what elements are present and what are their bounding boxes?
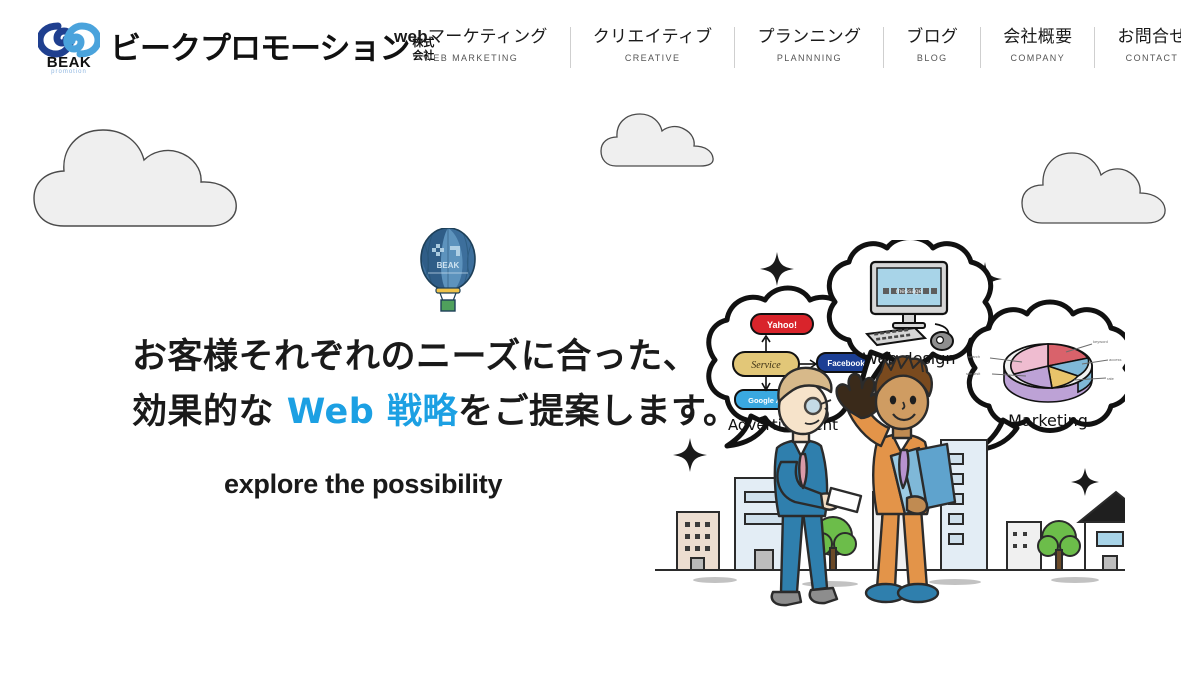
pie-callout-label: rate <box>1107 376 1115 381</box>
ad-node-label: Yahoo! <box>767 320 797 330</box>
nav-label-en: BLOG <box>917 53 948 63</box>
logo-company-name: ビークプロモーション <box>110 34 409 65</box>
nav-item-planning[interactable]: プランニング PLANNNING <box>735 26 883 72</box>
nav-item-contact[interactable]: お問合せ CONTACT <box>1095 26 1181 72</box>
nav-item-blog[interactable]: ブログ BLOG <box>884 26 980 72</box>
tree-icon <box>1038 521 1080 570</box>
balloon-beak-label: BEAK <box>437 261 460 270</box>
nav-label-en: COMPANY <box>1010 53 1065 63</box>
headline-pre: 効果的な <box>132 392 287 432</box>
cloud-left <box>28 108 256 233</box>
nav-label-ja: プランニング <box>757 26 861 48</box>
logo-sub-text: promotion <box>38 69 100 75</box>
hero-headline-line1: お客様それぞれのニーズに合った、 <box>132 330 739 385</box>
nav-label-ja-bold: web <box>394 27 428 46</box>
marketing-bubble: keyword access rate search site visit Ma… <box>966 302 1125 450</box>
sparkle-icon <box>1071 468 1099 496</box>
pie-callout-label: site visit <box>966 371 981 376</box>
cloud-center <box>598 110 718 173</box>
nav-item-company[interactable]: 会社概要 COMPANY <box>981 26 1094 72</box>
nav-label-ja: 会社概要 <box>1003 26 1072 48</box>
nav-label-en: CREATIVE <box>625 53 681 63</box>
headline-accent: Web 戦略 <box>287 392 458 432</box>
nav-label-en: PLANNNING <box>777 53 842 63</box>
sparkle-icon <box>760 252 794 286</box>
headline-post: をご提案します。 <box>458 392 739 432</box>
nav-item-creative[interactable]: クリエイティブ CREATIVE <box>571 26 735 72</box>
nav-item-web-marketing[interactable]: webマーケティング WEB MARKETING <box>372 26 570 72</box>
nav-label-en: WEB MARKETING <box>424 53 519 63</box>
pie-callout-label: search <box>968 354 980 359</box>
nav-label-en: CONTACT <box>1126 53 1179 63</box>
ad-node-label: Facebook <box>827 359 865 368</box>
pie-callout-label: keyword <box>1093 339 1108 344</box>
beak-infinity-icon: BEAK promotion <box>38 22 100 76</box>
nav-label-ja: webマーケティング <box>394 26 548 48</box>
hot-air-balloon-icon: BEAK <box>412 228 484 317</box>
page-stage: BEAK promotion ビークプロモーション 株式 会社 webマーケティ… <box>0 0 1181 685</box>
marketing-caption: Marketing <box>1008 411 1088 430</box>
hero-headline-line2: 効果的な Web 戦略をご提案します。 <box>132 385 739 440</box>
site-header: BEAK promotion ビークプロモーション 株式 会社 webマーケティ… <box>0 0 1181 88</box>
businessman-orange <box>837 356 955 602</box>
hero-copy: お客様それぞれのニーズに合った、 効果的な Web 戦略をご提案します。 exp… <box>132 330 739 500</box>
ad-node-label: Service <box>751 360 781 371</box>
nav-label-ja: クリエイティブ <box>593 26 713 48</box>
logo-beak-text: BEAK <box>38 55 100 70</box>
nav-label-ja: ブログ <box>906 26 958 48</box>
hero-tagline: explore the possibility <box>224 469 739 500</box>
nav-label-ja-rest: マーケティング <box>428 27 548 46</box>
monitor-screen-text: message <box>896 288 923 295</box>
main-navigation: webマーケティング WEB MARKETING クリエイティブ CREATIV… <box>372 26 1181 72</box>
house-icon <box>1079 492 1125 570</box>
pie-callout-label: access <box>1109 357 1121 362</box>
cloud-right <box>1018 145 1173 230</box>
nav-label-ja: お問合せ <box>1117 26 1181 48</box>
